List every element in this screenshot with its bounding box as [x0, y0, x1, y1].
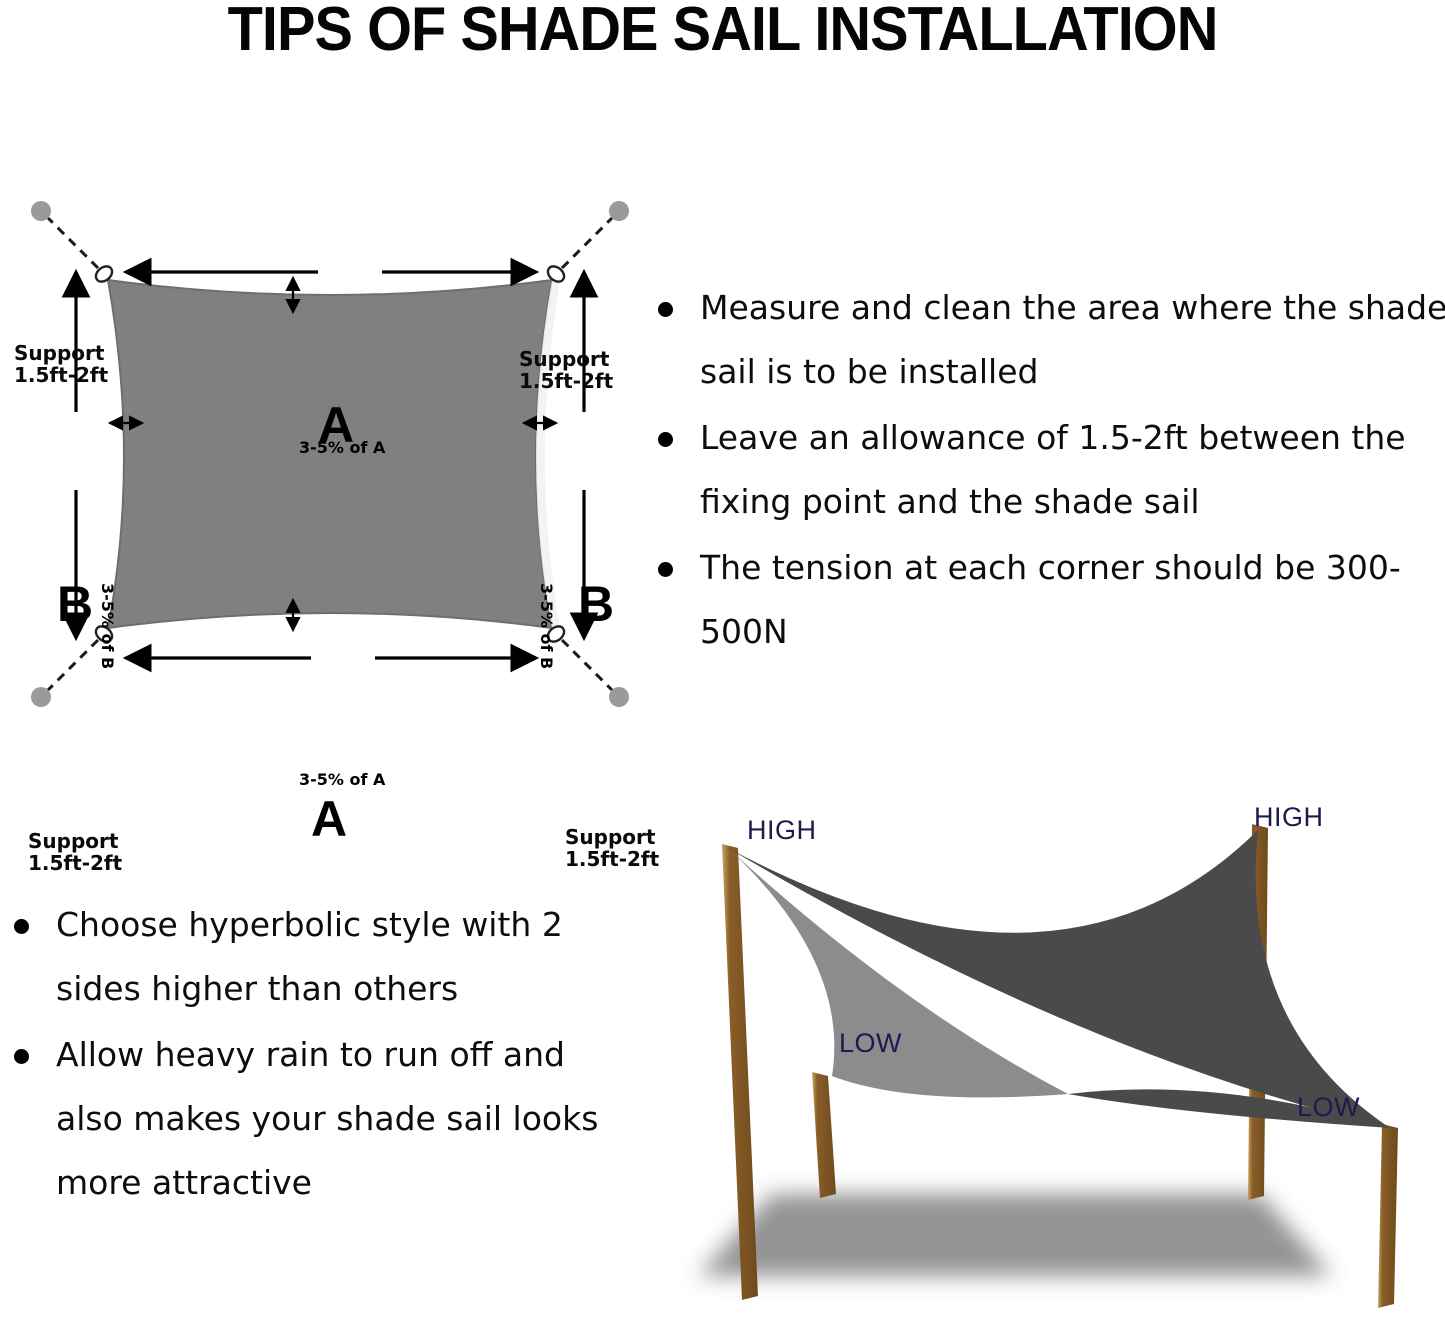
support-label-line1: Support — [28, 830, 122, 852]
rectangular-sail-diagram: Support 1.5ft-2ft Support 1.5ft-2ft Supp… — [0, 160, 660, 730]
label-low-left: LOW — [839, 1028, 902, 1059]
curve-label-a-top: 3-5% of A — [299, 438, 385, 457]
post-high-left — [722, 844, 758, 1300]
support-label-line1: Support — [519, 348, 613, 370]
support-label-line2: 1.5ft-2ft — [14, 364, 108, 386]
curve-label-b-left: 3-5% of B — [98, 583, 117, 669]
support-label-line1: Support — [565, 826, 659, 848]
support-label-line2: 1.5ft-2ft — [28, 852, 122, 874]
support-label-bottom-left: Support 1.5ft-2ft — [28, 830, 122, 875]
curve-label-b-right: 3-5% of B — [537, 583, 556, 669]
list-item: Measure and clean the area where the sha… — [648, 276, 1445, 404]
installation-tips-list: Measure and clean the area where the sha… — [648, 276, 1445, 666]
dimension-label-b-left: B — [57, 579, 93, 629]
hyperbolic-tips-list: Choose hyperbolic style with 2 sides hig… — [4, 893, 629, 1217]
post-low-right — [1378, 1124, 1398, 1308]
support-label-bottom-right: Support 1.5ft-2ft — [565, 826, 659, 871]
label-high-right: HIGH — [1254, 802, 1324, 833]
list-item: Allow heavy rain to run off and also mak… — [4, 1023, 629, 1215]
support-label-line2: 1.5ft-2ft — [519, 370, 613, 392]
dimension-label-a-bottom: A — [311, 794, 347, 844]
list-item: Choose hyperbolic style with 2 sides hig… — [4, 893, 629, 1021]
support-label-top-right: Support 1.5ft-2ft — [519, 348, 613, 393]
page-title: TIPS OF SHADE SAIL INSTALLATION — [51, 0, 1395, 65]
dimension-label-b-right: B — [578, 579, 614, 629]
hyperbolic-sail-diagram: HIGH HIGH LOW LOW — [660, 776, 1445, 1319]
hyperbolic-sail-svg — [660, 776, 1445, 1319]
support-label-line2: 1.5ft-2ft — [565, 848, 659, 870]
label-low-right: LOW — [1297, 1092, 1360, 1123]
list-item: Leave an allowance of 1.5-2ft between th… — [648, 406, 1445, 534]
support-label-line1: Support — [14, 342, 108, 364]
support-label-top-left: Support 1.5ft-2ft — [14, 342, 108, 387]
post-low-left — [812, 1072, 836, 1198]
ground-shadow — [698, 1194, 1332, 1276]
label-high-left: HIGH — [747, 815, 817, 846]
curve-label-a-bottom: 3-5% of A — [299, 770, 385, 789]
list-item: The tension at each corner should be 300… — [648, 536, 1445, 664]
